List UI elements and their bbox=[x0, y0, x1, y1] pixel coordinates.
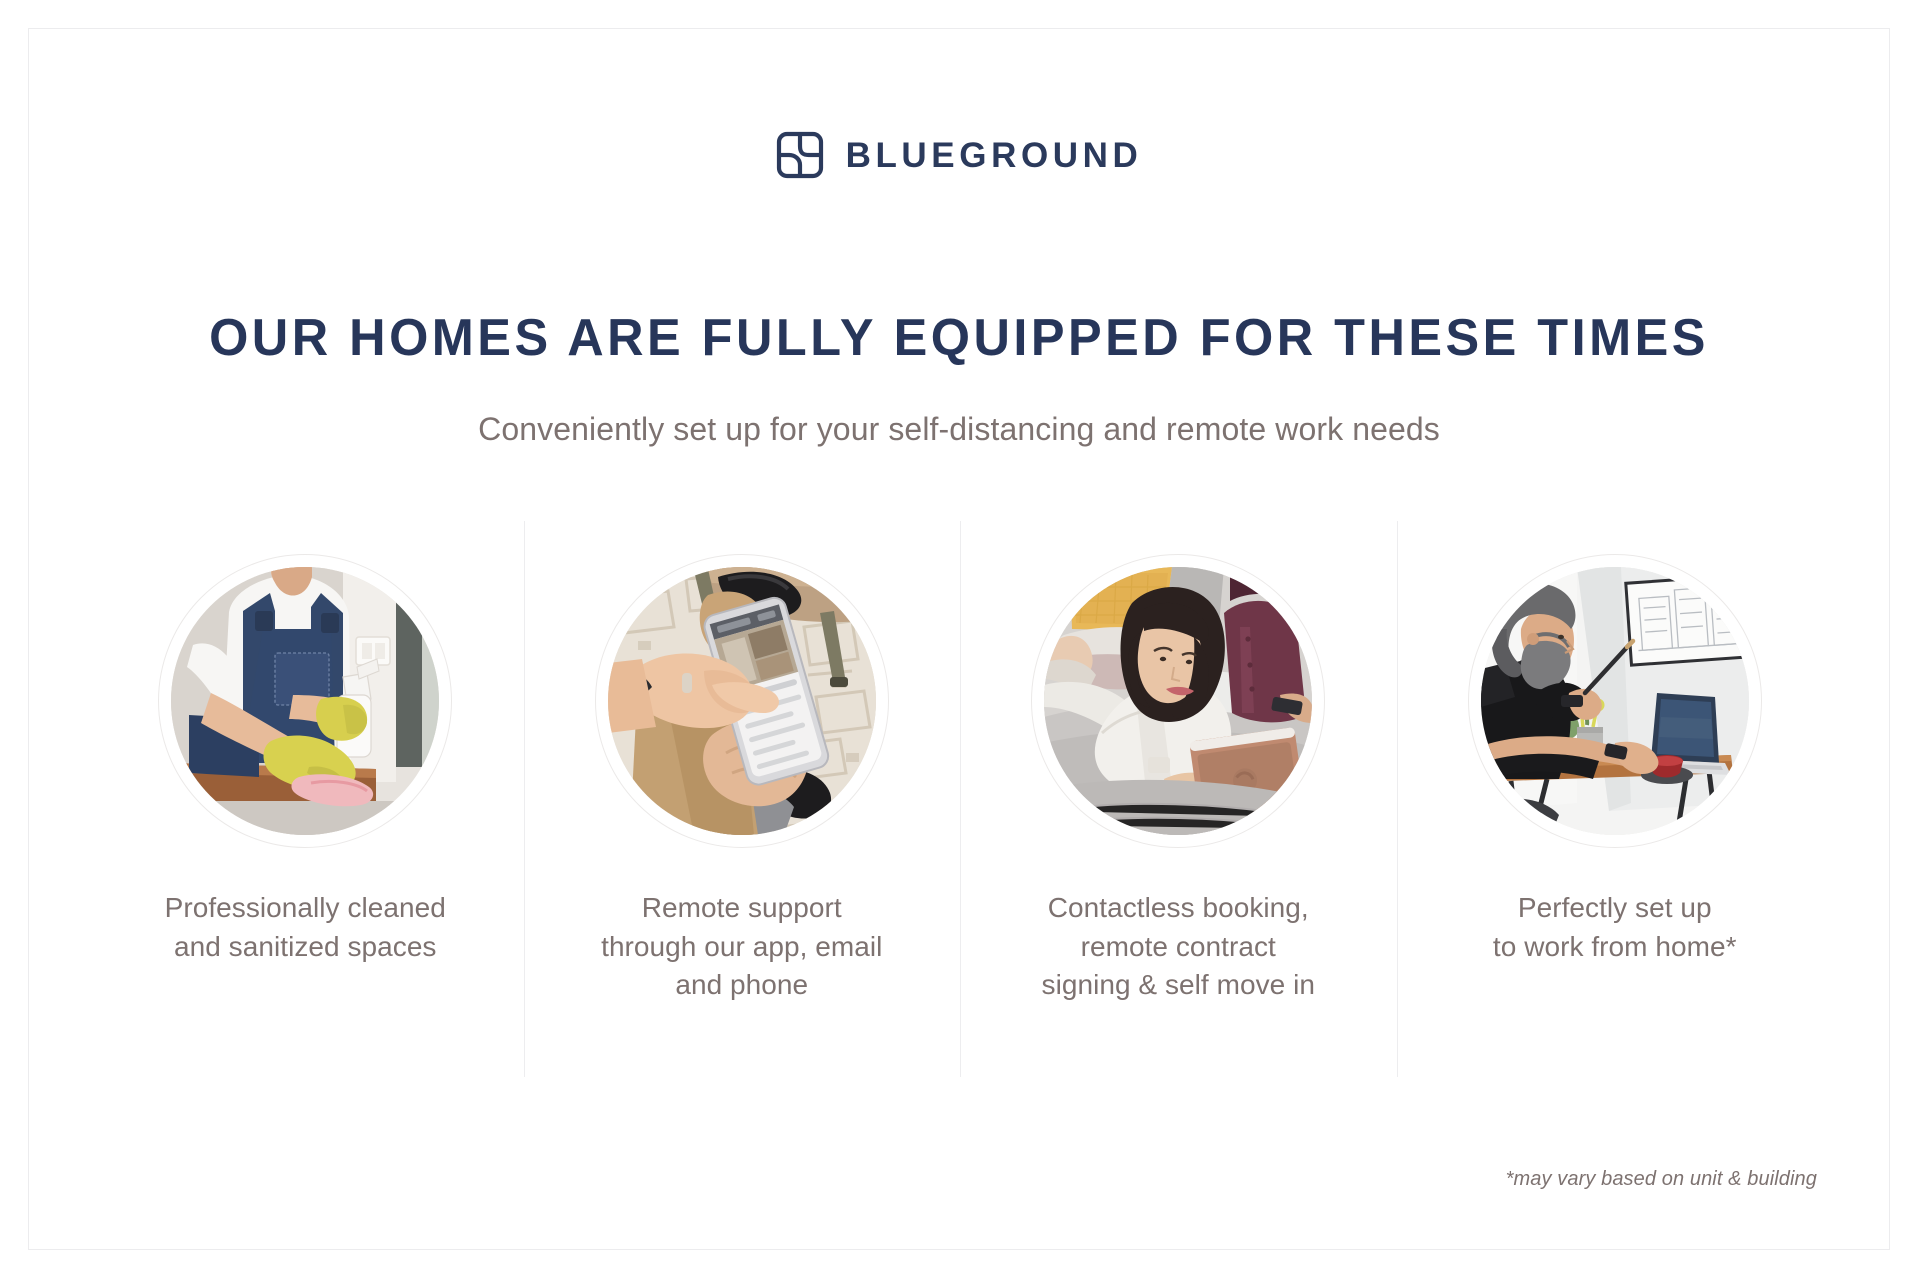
photo-cleaning-person-wiping-counter bbox=[171, 567, 439, 835]
brand-header: BLUEGROUND bbox=[29, 131, 1889, 179]
feature-caption: Remote support through our app, email an… bbox=[601, 889, 882, 1005]
blueground-logo-icon bbox=[776, 131, 824, 179]
feature-item-contactless-booking: Contactless booking, remote contract sig… bbox=[960, 521, 1397, 1005]
feature-caption: Contactless booking, remote contract sig… bbox=[1042, 889, 1315, 1005]
photo-ring bbox=[1031, 554, 1325, 848]
photo-woman-on-bed-with-tablet bbox=[1044, 567, 1312, 835]
feature-item-work-from-home: Perfectly set up to work from home* bbox=[1397, 521, 1834, 966]
feature-item-remote-support: Remote support through our app, email an… bbox=[524, 521, 961, 1005]
feature-list: Professionally cleaned and sanitized spa… bbox=[87, 521, 1833, 1005]
page-frame: BLUEGROUND OUR HOMES ARE FULLY EQUIPPED … bbox=[28, 28, 1890, 1250]
photo-ring bbox=[1468, 554, 1762, 848]
photo-hands-using-smartphone-app bbox=[608, 567, 876, 835]
photo-ring bbox=[158, 554, 452, 848]
photo-ring bbox=[595, 554, 889, 848]
brand-wordmark: BLUEGROUND bbox=[846, 138, 1143, 173]
feature-item-cleaning: Professionally cleaned and sanitized spa… bbox=[87, 521, 524, 966]
feature-caption: Perfectly set up to work from home* bbox=[1493, 889, 1737, 966]
page-subtitle: Conveniently set up for your self-distan… bbox=[29, 410, 1889, 448]
page-title: OUR HOMES ARE FULLY EQUIPPED FOR THESE T… bbox=[57, 311, 1861, 366]
footnote-disclaimer: *may vary based on unit & building bbox=[1506, 1168, 1817, 1191]
feature-caption: Professionally cleaned and sanitized spa… bbox=[165, 889, 446, 966]
photo-man-working-at-desk-with-laptop bbox=[1481, 567, 1749, 835]
